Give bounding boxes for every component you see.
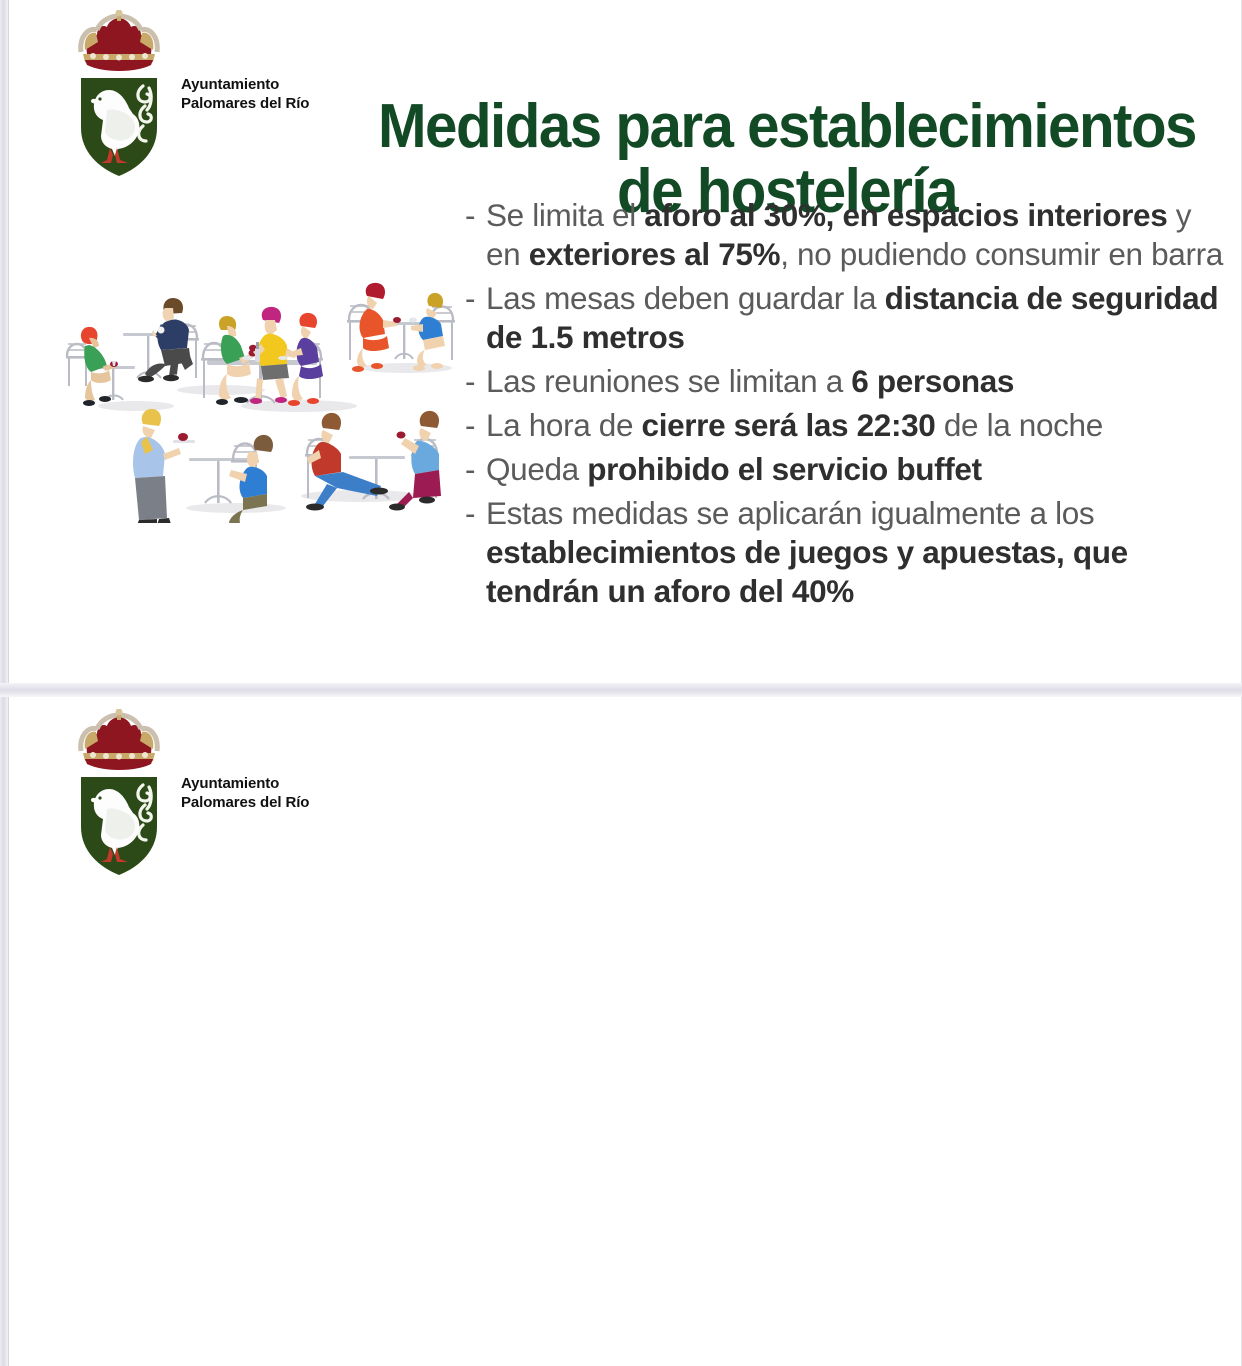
bullet-dash: - (465, 196, 475, 235)
panel-bodas: Ayuntamiento Palomares del Río Medidas p… (8, 697, 1242, 1366)
list-item-text: La hora de cierre será las 22:30 de la n… (486, 406, 1225, 445)
dove-shield-crest-icon (67, 709, 171, 877)
list-item-text: Las reuniones se limitan a 6 personas (486, 362, 1225, 401)
list-item-text: Las mesas deben guardar la distancia de … (486, 279, 1225, 357)
panel-hosteleria: Ayuntamiento Palomares del Río Medidas p… (8, 0, 1242, 683)
bullet-dash: - (465, 494, 475, 533)
bullet-dash: - (465, 279, 475, 318)
bullet-dash: - (465, 450, 475, 489)
plain-text: La hora de (486, 407, 642, 443)
plain-text: Se limita el (486, 197, 644, 233)
dove-shield-crest-icon (67, 10, 171, 178)
plain-text: Las reuniones se limitan a (486, 363, 851, 399)
emphasis-text: prohibido el servicio buffet (587, 451, 982, 487)
emphasis-text: 6 personas (851, 363, 1014, 399)
brand-line-2: Palomares del Río (181, 793, 309, 812)
emphasis-text: exteriores al 75% (529, 236, 780, 272)
bullet-dash: - (465, 362, 475, 401)
list-item: -Las mesas deben guardar la distancia de… (465, 279, 1225, 357)
brand-line-1: Ayuntamiento (181, 774, 309, 793)
plain-text: Estas medidas se aplicarán igualmente a … (486, 495, 1094, 531)
cafe-terrace-people-icon (61, 278, 461, 523)
list-item: -Se limita el aforo al 30%, en espacios … (465, 196, 1225, 274)
list-item-text: Queda prohibido el servicio buffet (486, 450, 1225, 489)
emphasis-text: cierre será las 22:30 (642, 407, 936, 443)
plain-text: Queda (486, 451, 587, 487)
list-item: -Queda prohibido el servicio buffet (465, 450, 1225, 489)
bullet-dash: - (465, 406, 475, 445)
list-item-text: Estas medidas se aplicarán igualmente a … (486, 494, 1225, 611)
list-item-text: Se limita el aforo al 30%, en espacios i… (486, 196, 1225, 274)
emphasis-text: establecimientos de juegos y apuestas, q… (486, 534, 1128, 609)
poster-page: Ayuntamiento Palomares del Río Medidas p… (0, 0, 1242, 1366)
brand-bodas: Ayuntamiento Palomares del Río (67, 709, 309, 877)
brand-line-2: Palomares del Río (181, 94, 309, 113)
plain-text: de la noche (935, 407, 1102, 443)
panel-divider (0, 683, 1242, 697)
brand-label: Ayuntamiento Palomares del Río (181, 774, 309, 812)
bullet-list-hosteleria: -Se limita el aforo al 30%, en espacios … (465, 196, 1225, 616)
list-item: -Las reuniones se limitan a 6 personas (465, 362, 1225, 401)
brand-line-1: Ayuntamiento (181, 75, 309, 94)
emphasis-text: aforo al 30%, en espacios interiores (644, 197, 1167, 233)
list-item: -Estas medidas se aplicarán igualmente a… (465, 494, 1225, 611)
plain-text: , no pudiendo consumir en barra (780, 236, 1223, 272)
plain-text: Las mesas deben guardar la (486, 280, 885, 316)
brand-hosteleria: Ayuntamiento Palomares del Río (67, 10, 309, 178)
list-item: -La hora de cierre será las 22:30 de la … (465, 406, 1225, 445)
brand-label: Ayuntamiento Palomares del Río (181, 75, 309, 113)
